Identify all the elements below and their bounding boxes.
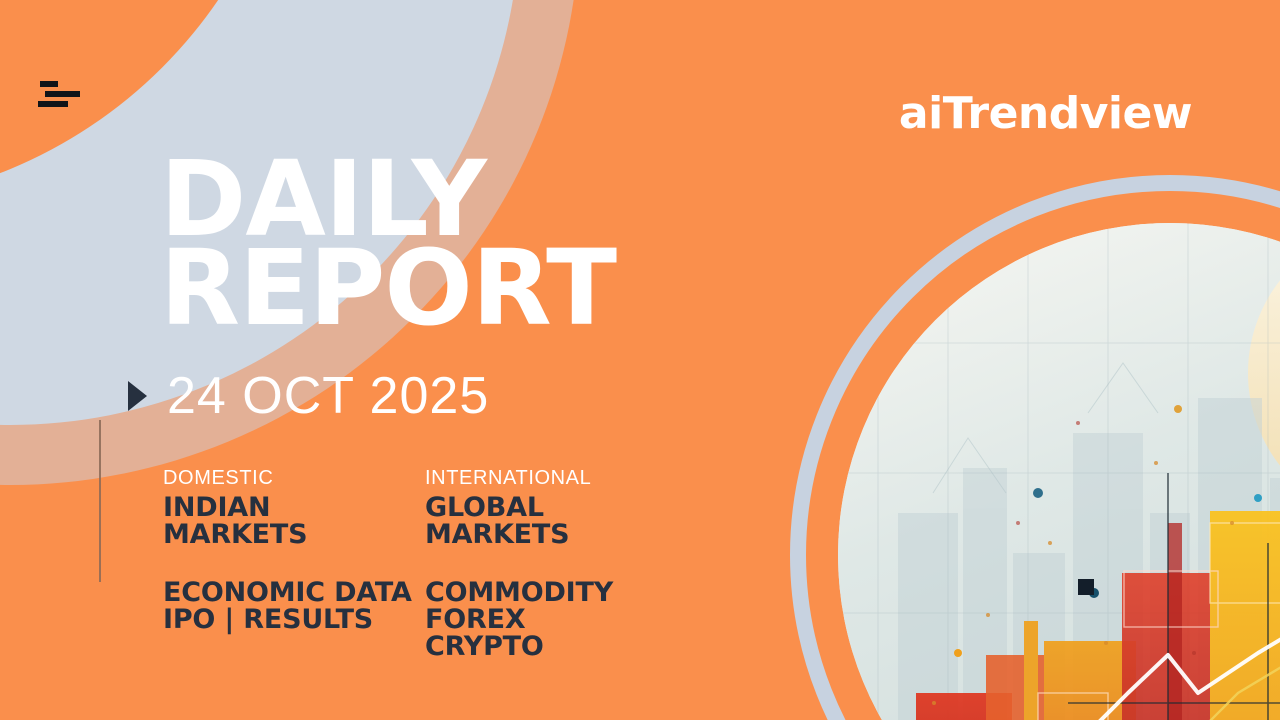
topic-title: INDIAN MARKETS [163,494,425,548]
topic-title-line: COMMODITY [425,579,687,606]
topic-domestic: DOMESTIC INDIAN MARKETS [163,466,425,548]
date-row: 24 OCT 2025 [128,366,489,426]
logo-bar-bottom [38,101,68,107]
vertical-divider [99,420,101,582]
topic-commodity: COMMODITY FOREX CRYPTO [425,576,687,660]
topic-title-line: MARKETS [163,521,425,548]
topics-grid: DOMESTIC INDIAN MARKETS INTERNATIONAL GL… [163,466,723,660]
topic-title: ECONOMIC DATA IPO | RESULTS [163,579,425,633]
topic-eyebrow: DOMESTIC [163,466,425,491]
brand-wordmark[interactable]: aiTrendview [899,88,1192,139]
report-date: 24 OCT 2025 [167,366,489,426]
topic-title-line: MARKETS [425,521,687,548]
daily-report-poster: aiTrendview DAILY REPORT 24 OCT 2025 DOM… [0,0,1280,720]
page-title: DAILY REPORT [160,155,616,334]
topic-title: GLOBAL MARKETS [425,494,687,548]
topic-eyebrow: INTERNATIONAL [425,466,687,491]
topic-title-line: CRYPTO [425,633,687,660]
topic-title: COMMODITY FOREX CRYPTO [425,579,687,660]
topic-title-line: FOREX [425,606,687,633]
logo-bar-top [40,81,58,87]
topic-title-line: INDIAN [163,494,425,521]
headline-line-2: REPORT [160,244,616,333]
topic-title-line: GLOBAL [425,494,687,521]
abstract-financial-cityscape-circle [838,223,1280,720]
logo-bar-middle [45,91,80,97]
topic-title-line: ECONOMIC DATA [163,579,425,606]
play-triangle-icon [128,381,147,411]
topic-economic-data: ECONOMIC DATA IPO | RESULTS [163,576,425,660]
topic-title-line: IPO | RESULTS [163,606,425,633]
three-bar-logo-mark[interactable] [38,79,86,109]
topic-international: INTERNATIONAL GLOBAL MARKETS [425,466,687,548]
artwork-svg [838,223,1280,720]
